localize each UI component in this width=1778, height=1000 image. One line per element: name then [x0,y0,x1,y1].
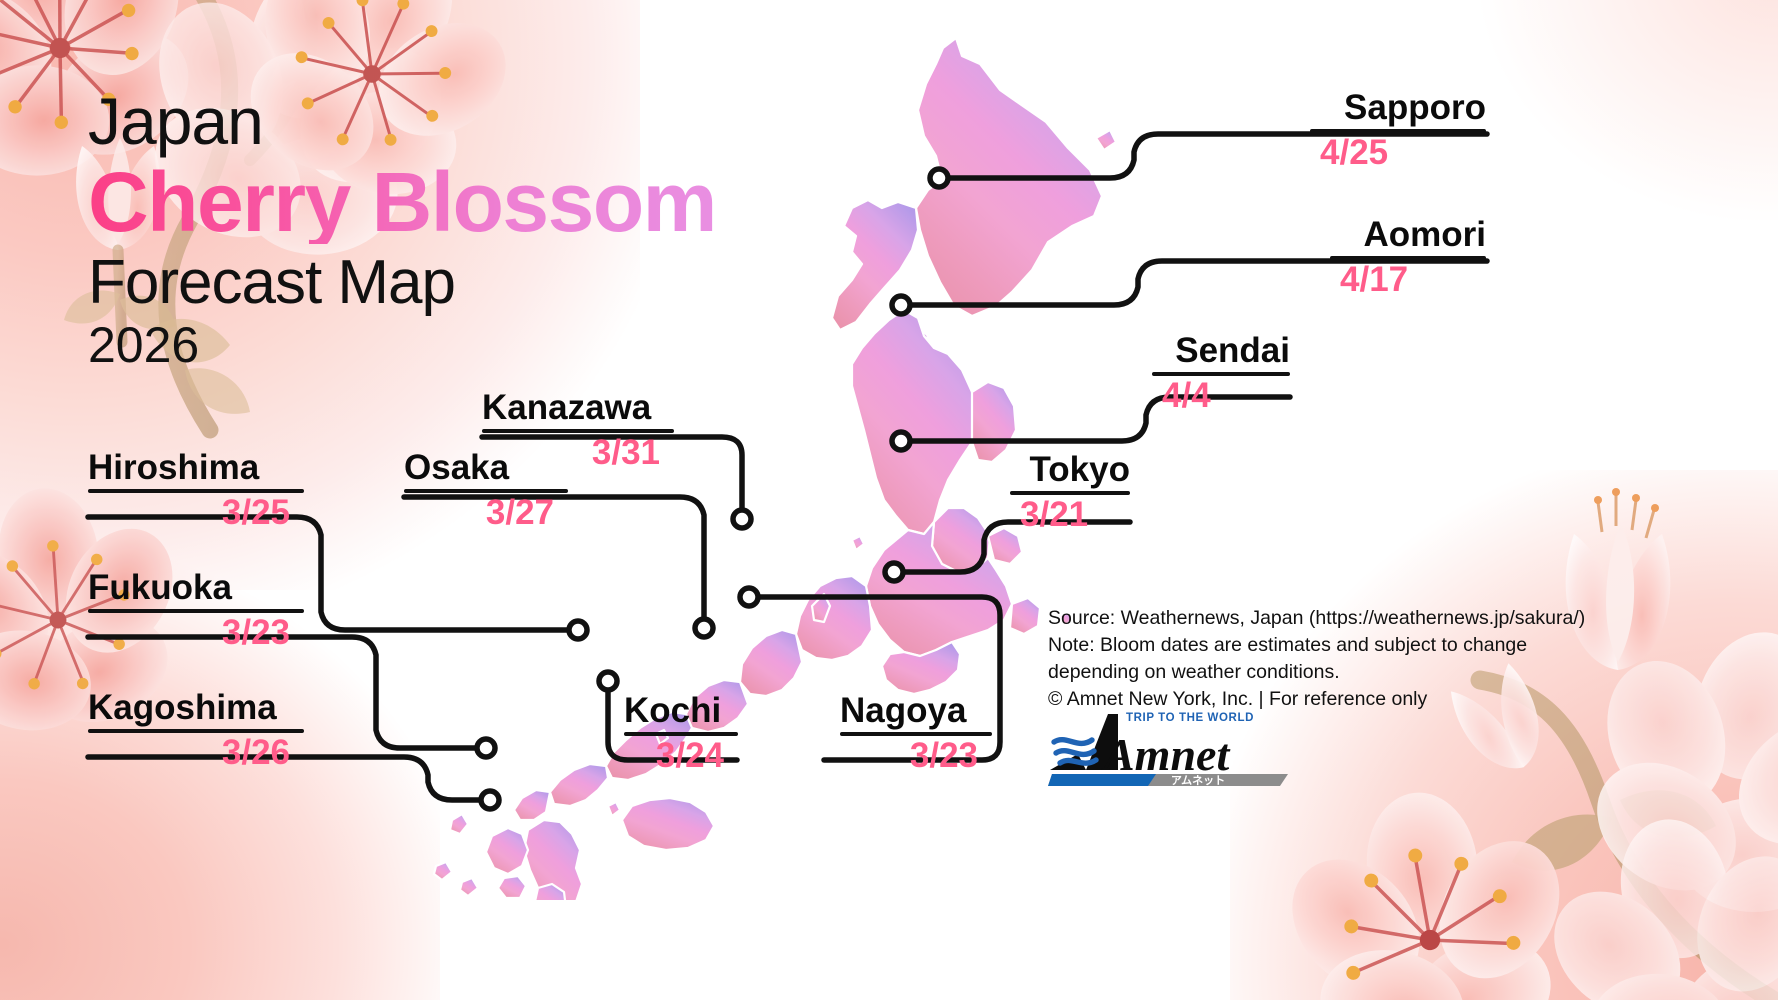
source-line: Source: Weathernews, Japan (https://weat… [1048,605,1568,632]
callout-aomori[interactable]: Aomori 4/17 [1330,217,1486,298]
callout-city-label: Sapporo [1310,90,1486,126]
callout-date-label: 3/21 [1010,497,1130,534]
page-title: Japan Cherry Blossom Forecast Map 2026 [88,88,716,370]
callout-date-label: 4/4 [1152,378,1290,415]
source-note-block: Source: Weathernews, Japan (https://weat… [1048,605,1568,713]
callout-city-label: Kanazawa [482,390,674,426]
map-marker-aomori [892,296,910,314]
callout-hiroshima[interactable]: Hiroshima 3/25 [88,450,304,531]
amnet-wordmark: Amnet [1101,729,1230,780]
title-year: 2026 [88,320,716,370]
map-marker-kanazawa [733,510,751,528]
callout-city-label: Sendai [1152,333,1290,369]
callout-city-label: Fukuoka [88,570,304,606]
note-line-2: depending on weather conditions. [1048,659,1568,686]
amnet-katakana: アムネット [1171,774,1225,786]
map-marker-sapporo [930,169,948,187]
map-marker-hiroshima [569,621,587,639]
callout-sapporo[interactable]: Sapporo 4/25 [1310,90,1486,171]
map-marker-fukuoka [477,739,495,757]
callout-date-label: 3/26 [88,735,304,772]
callout-city-label: Nagoya [840,693,992,729]
callout-city-label: Hiroshima [88,450,304,486]
note-line-1: Note: Bloom dates are estimates and subj… [1048,632,1568,659]
map-marker-osaka [695,619,713,637]
map-marker-sendai [892,432,910,450]
amnet-tagline: TRIP TO THE WORLD [1126,712,1254,724]
callout-date-label: 4/25 [1310,135,1486,172]
callout-tokyo[interactable]: Tokyo 3/21 [1010,452,1130,533]
infographic-canvas: Japan Cherry Blossom Forecast Map 2026 H… [0,0,1778,1000]
amnet-logo-icon: TRIP TO THE WORLD Amnet アムネット [1048,708,1288,786]
map-marker-kagoshima [481,791,499,809]
amnet-logo[interactable]: TRIP TO THE WORLD Amnet アムネット [1048,708,1288,786]
callout-date-label: 3/23 [840,738,992,775]
callout-date-label: 3/27 [404,495,568,532]
callout-nagoya[interactable]: Nagoya 3/23 [840,693,992,774]
callout-kochi[interactable]: Kochi 3/24 [624,693,738,774]
callout-city-label: Tokyo [1010,452,1130,488]
callout-date-label: 3/23 [88,615,304,652]
title-line-forecast-map: Forecast Map [88,252,716,314]
callout-date-label: 3/25 [88,495,304,532]
callout-kagoshima[interactable]: Kagoshima 3/26 [88,690,304,771]
callout-city-label: Kagoshima [88,690,304,726]
callout-date-label: 3/24 [624,738,738,775]
map-marker-kochi [599,672,617,690]
callout-fukuoka[interactable]: Fukuoka 3/23 [88,570,304,651]
map-marker-nagoya [740,588,758,606]
callout-sendai[interactable]: Sendai 4/4 [1152,333,1290,414]
callout-date-label: 3/31 [482,435,674,472]
title-line-cherry-blossom: Cherry Blossom [88,160,716,244]
title-line-japan: Japan [88,88,716,154]
callout-kanazawa[interactable]: Kanazawa 3/31 [482,390,674,471]
callout-date-label: 4/17 [1330,262,1486,299]
map-marker-tokyo [885,563,903,581]
callout-city-label: Aomori [1330,217,1486,253]
callout-city-label: Kochi [624,693,738,729]
